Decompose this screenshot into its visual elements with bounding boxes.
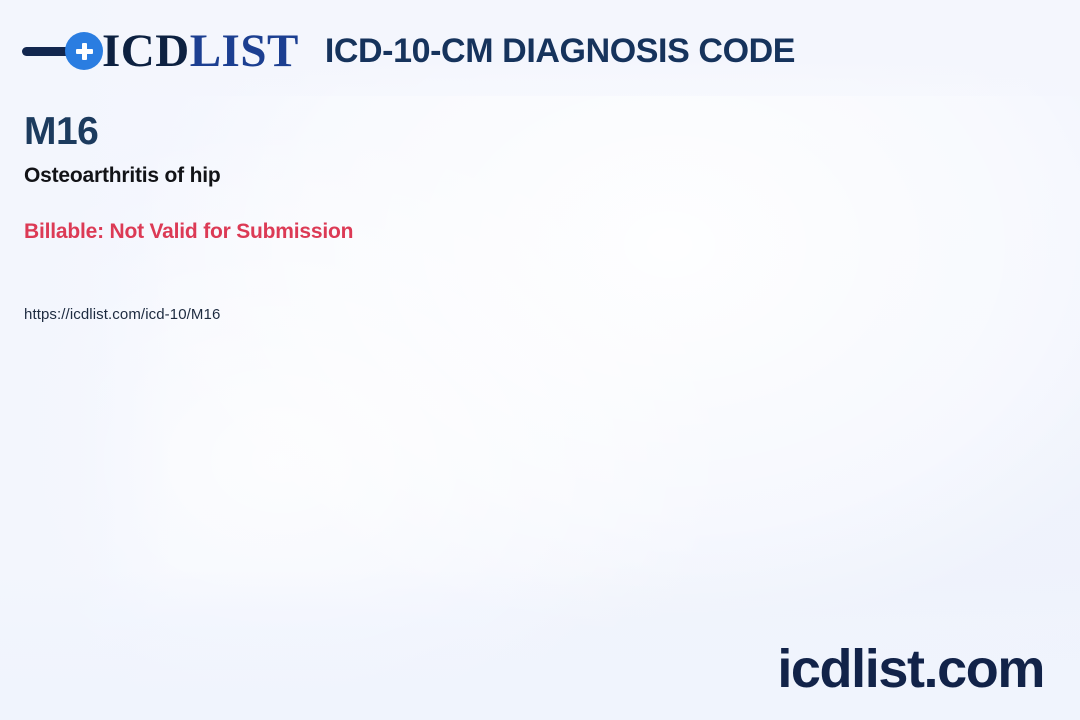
footer-brand: icdlist.com	[777, 642, 1044, 696]
page-header: ICDLIST ICD-10-CM DIAGNOSIS CODE	[22, 22, 795, 80]
icdlist-logo[interactable]: ICDLIST	[22, 22, 299, 80]
background-wash	[0, 0, 1080, 720]
diagnosis-code: M16	[24, 112, 664, 153]
poster-canvas: ICDLIST ICD-10-CM DIAGNOSIS CODE M16 Ost…	[0, 0, 1080, 720]
diagnosis-description: Osteoarthritis of hip	[24, 163, 664, 188]
background-artwork	[0, 0, 1080, 720]
billable-status: Billable: Not Valid for Submission	[24, 219, 664, 244]
logo-word-list: LIST	[190, 25, 299, 77]
page-title: ICD-10-CM DIAGNOSIS CODE	[325, 32, 795, 71]
logo-wordmark: ICDLIST	[102, 28, 299, 75]
background-fade-left	[0, 0, 170, 720]
logo-mark	[22, 32, 103, 70]
source-url[interactable]: https://icdlist.com/icd-10/M16	[24, 306, 664, 324]
plus-icon	[65, 32, 103, 70]
diagnosis-details: M16 Osteoarthritis of hip Billable: Not …	[24, 112, 664, 324]
plus-horizontal-bar	[76, 49, 93, 54]
logo-word-icd: ICD	[102, 25, 190, 77]
